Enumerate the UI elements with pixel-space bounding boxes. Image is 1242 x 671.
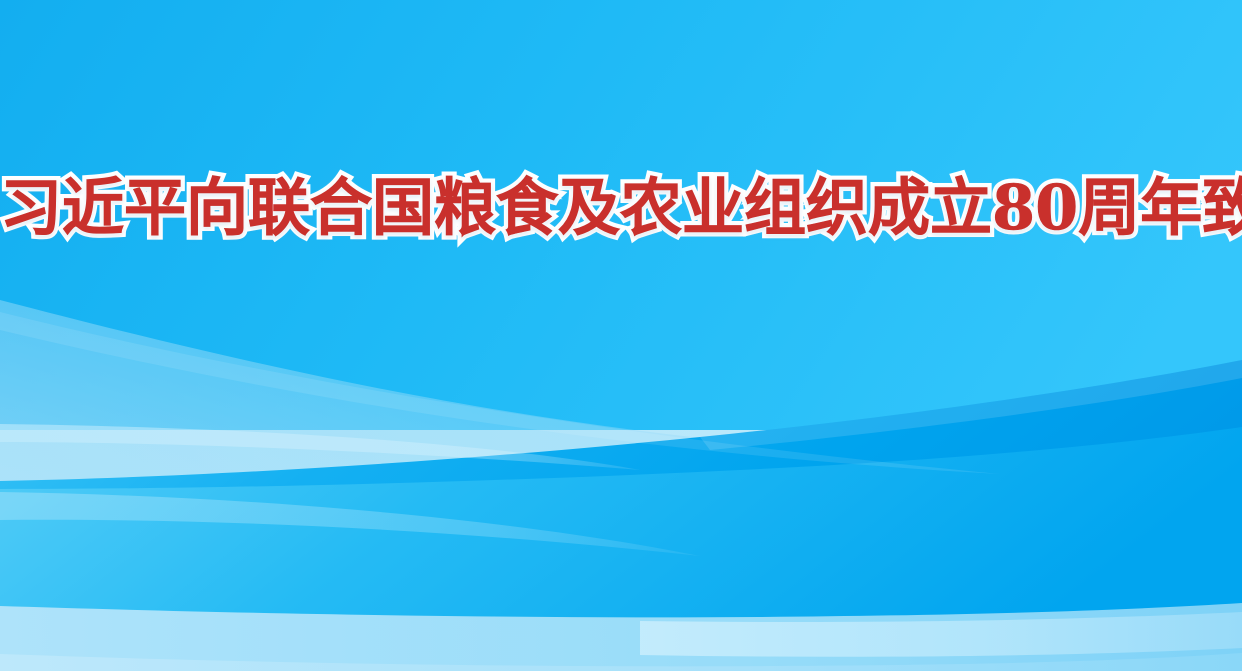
background-artwork xyxy=(0,0,1242,671)
news-banner: 习近平向联合国粮食及农业组织成立80周年致贺信 习近平向联合国粮食及农业组织成立… xyxy=(0,0,1242,671)
